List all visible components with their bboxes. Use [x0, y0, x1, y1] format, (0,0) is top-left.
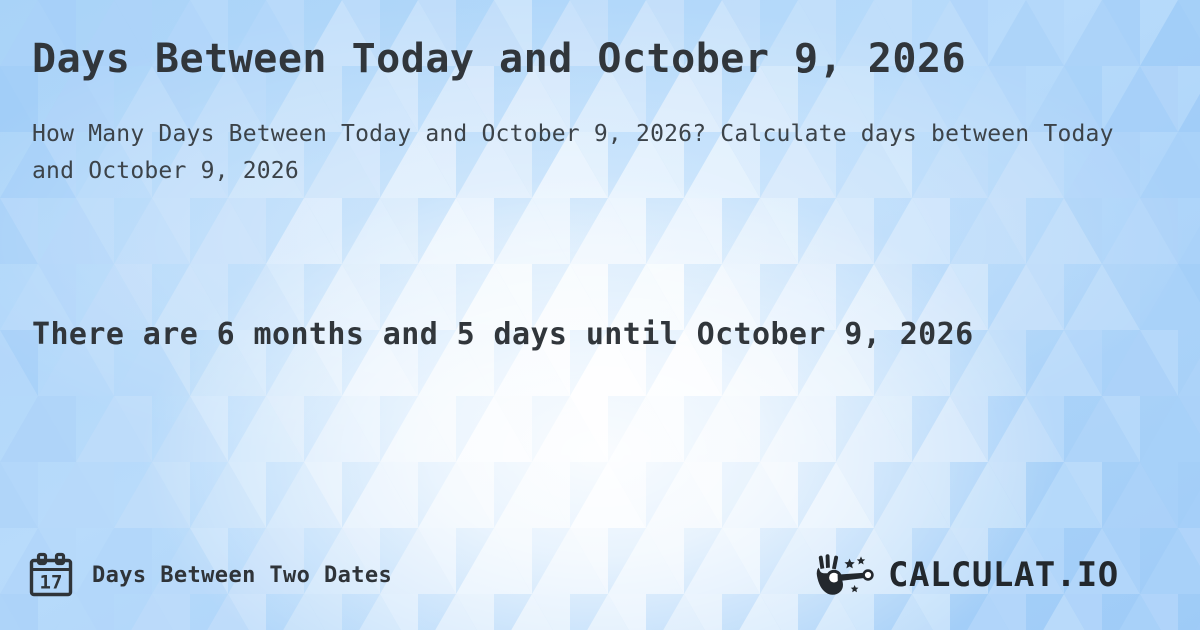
footer-link[interactable]: 17 Days Between Two Dates	[28, 552, 392, 598]
calendar-17-icon: 17	[28, 552, 74, 598]
calendar-day-number: 17	[40, 572, 63, 594]
footer-link-label: Days Between Two Dates	[92, 563, 392, 588]
brand-logo[interactable]: CALCULAT.IO	[816, 553, 1176, 597]
hand-magic-wand-icon	[816, 553, 882, 597]
page-subtitle: How Many Days Between Today and October …	[32, 116, 1162, 190]
page-title: Days Between Today and October 9, 2026	[32, 34, 1032, 84]
result-statement: There are 6 months and 5 days until Octo…	[32, 312, 1152, 358]
brand-wordmark: CALCULAT.IO	[888, 555, 1176, 595]
brand-wordmark-text: CALCULAT.IO	[888, 555, 1119, 595]
footer: 17 Days Between Two Dates	[0, 534, 1200, 630]
